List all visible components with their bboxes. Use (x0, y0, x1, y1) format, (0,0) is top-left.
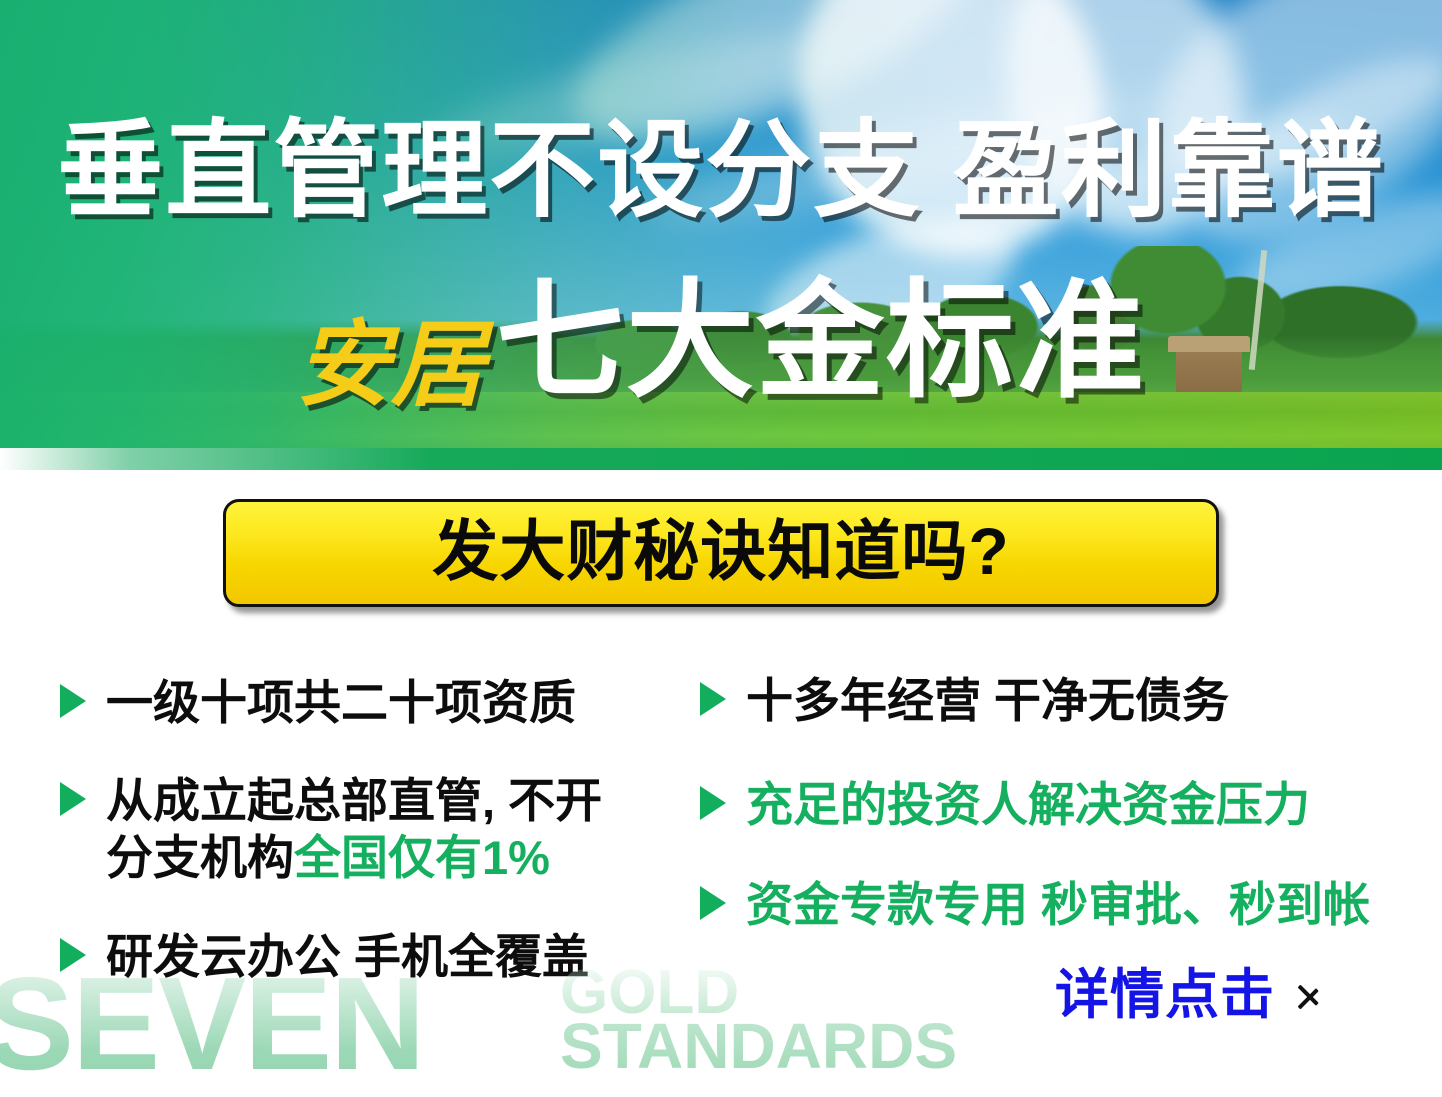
hero-headline-secondary: 安居七大金标准 (0, 278, 1442, 406)
hero-slogan-text: 七大金标准 (496, 278, 1146, 406)
feature-line-1: 从成立起总部直管, 不开 (106, 774, 602, 827)
hero-banner: 垂直管理不设分支 盈利靠谱 安居七大金标准 (0, 0, 1442, 470)
details-click-button[interactable]: 详情点击 (1055, 968, 1319, 1022)
green-divider-strip (0, 448, 1442, 470)
feature-item-label: 充足的投资人解决资金压力 (746, 776, 1310, 833)
details-click-label: 详情点击 (1055, 968, 1275, 1022)
triangle-right-icon (60, 684, 86, 718)
feature-line-2-plain: 分支机构 (106, 831, 294, 884)
watermark-standards: STANDARDS (560, 1014, 957, 1078)
triangle-right-icon (60, 782, 86, 816)
feature-item: 资金专款专用 秒审批、秒到帐 (700, 876, 1370, 933)
question-banner-text: 发大财秘诀知道吗? (432, 518, 1009, 584)
question-banner[interactable]: 发大财秘诀知道吗? (223, 499, 1219, 607)
question-banner-wrapper: 发大财秘诀知道吗? (0, 498, 1442, 608)
watermark-seven: SEVEN (0, 958, 424, 1090)
feature-item: 从成立起总部直管, 不开 分支机构全国仅有1% (60, 772, 602, 887)
feature-line-2-highlight: 全国仅有1% (294, 831, 550, 884)
triangle-right-icon (700, 682, 726, 716)
hero-headline-primary: 垂直管理不设分支 盈利靠谱 (0, 118, 1442, 224)
feature-item: 十多年经营 干净无债务 (700, 672, 1229, 729)
feature-item-label: 资金专款专用 秒审批、秒到帐 (746, 876, 1370, 933)
feature-item-label: 十多年经营 干净无债务 (746, 672, 1229, 729)
feature-item: 一级十项共二十项资质 (60, 674, 576, 731)
chevron-right-icon (1297, 974, 1319, 1016)
triangle-right-icon (700, 886, 726, 920)
hero-brand-text: 安居 (296, 318, 486, 412)
feature-item: 充足的投资人解决资金压力 (700, 776, 1310, 833)
feature-item-label-multiline: 从成立起总部直管, 不开 分支机构全国仅有1% (106, 772, 602, 887)
triangle-right-icon (700, 786, 726, 820)
feature-item-label: 一级十项共二十项资质 (106, 674, 576, 731)
feature-columns: 一级十项共二十项资质 从成立起总部直管, 不开 分支机构全国仅有1% 研发云办公… (0, 660, 1442, 990)
